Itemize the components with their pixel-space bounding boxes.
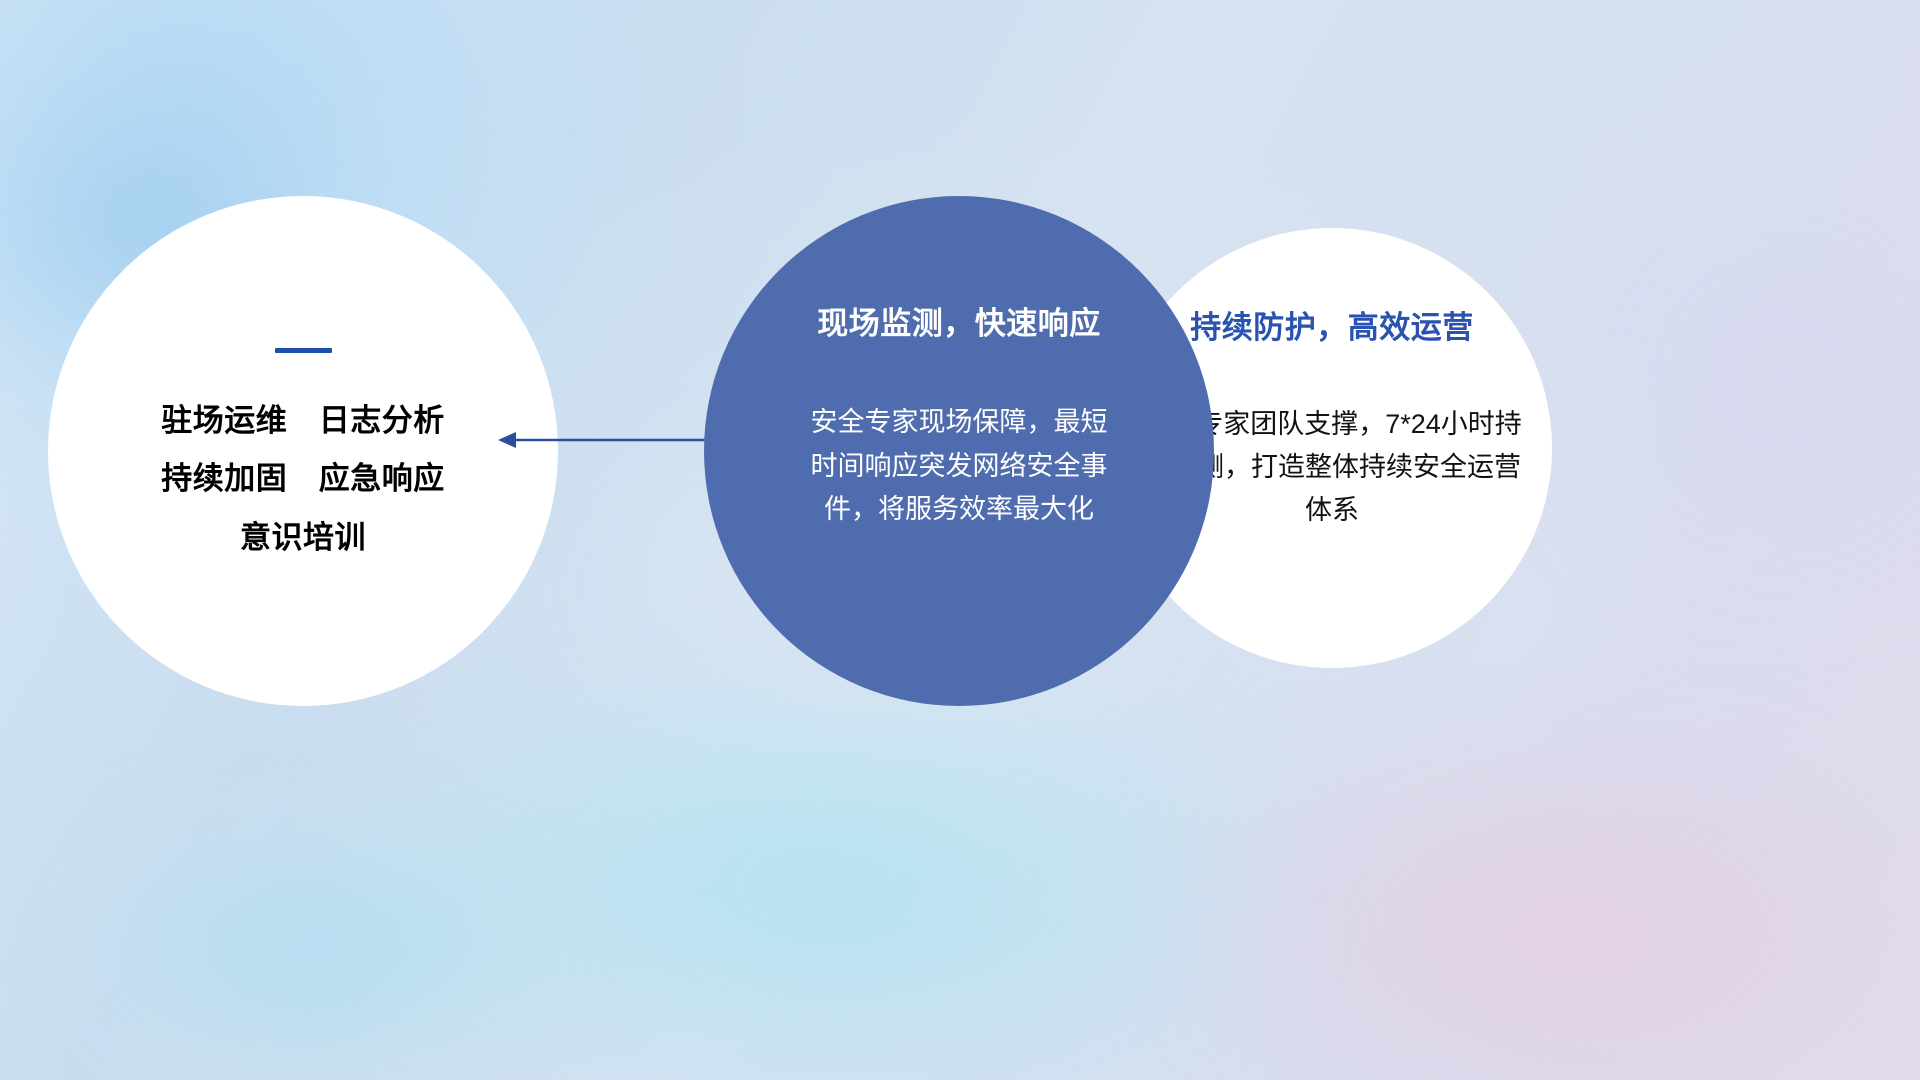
keyword-line: 持续加固 应急响应	[161, 463, 445, 496]
keyword-line: 驻场运维 日志分析	[161, 405, 445, 438]
middle-circle-body: 安全专家现场保障，最短时间响应突发网络安全事件，将服务效率最大化	[804, 401, 1114, 532]
middle-info-circle[interactable]: 现场监测，快速响应 安全专家现场保障，最短时间响应突发网络安全事件，将服务效率最…	[704, 196, 1214, 706]
right-circle-title: 持续防护，高效运营	[1190, 302, 1474, 347]
slide-canvas: 驻场运维 日志分析 持续加固 应急响应 意识培训 持续防护，高效运营 远程专家团…	[0, 0, 1920, 1080]
left-keywords-circle[interactable]: 驻场运维 日志分析 持续加固 应急响应 意识培训	[48, 196, 558, 706]
title-divider-line	[275, 348, 332, 353]
keyword-list: 驻场运维 日志分析 持续加固 应急响应 意识培训	[161, 405, 445, 555]
keyword-line: 意识培训	[240, 522, 366, 555]
middle-circle-title: 现场监测，快速响应	[817, 298, 1101, 343]
